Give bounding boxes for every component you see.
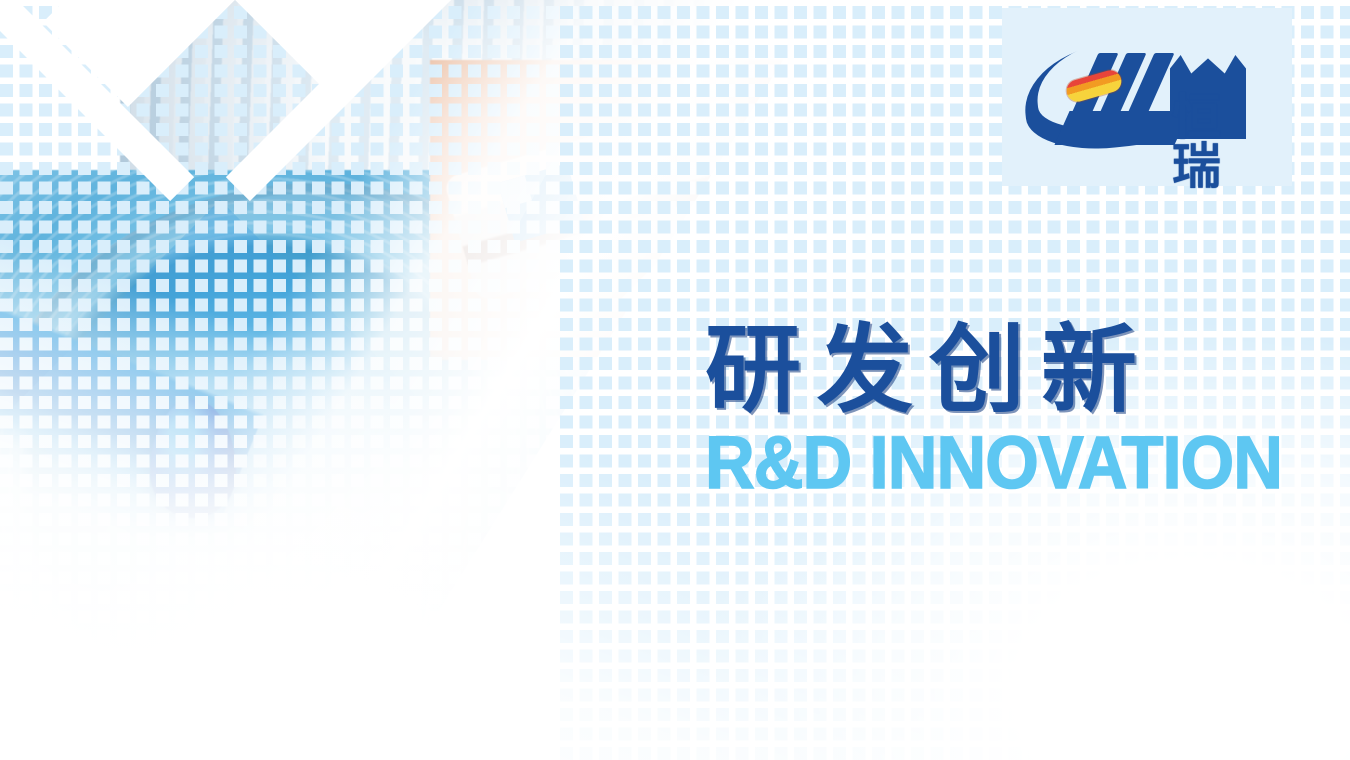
brand-name-cn: 恒瑞	[1172, 93, 1272, 191]
headline-chinese: 研发创新	[705, 322, 1325, 420]
headline-block: 研发创新 R&D INNOVATION	[705, 322, 1325, 500]
hengrui-logo-mark: 恒瑞	[1022, 37, 1272, 157]
hengrui-logo-panel[interactable]: 恒瑞	[1002, 8, 1292, 186]
banner-stage: 恒瑞 研发创新 R&D INNOVATION	[0, 0, 1350, 760]
logo-stripe-base	[1054, 111, 1189, 145]
headline-english: R&D INNOVATION	[705, 426, 1282, 500]
